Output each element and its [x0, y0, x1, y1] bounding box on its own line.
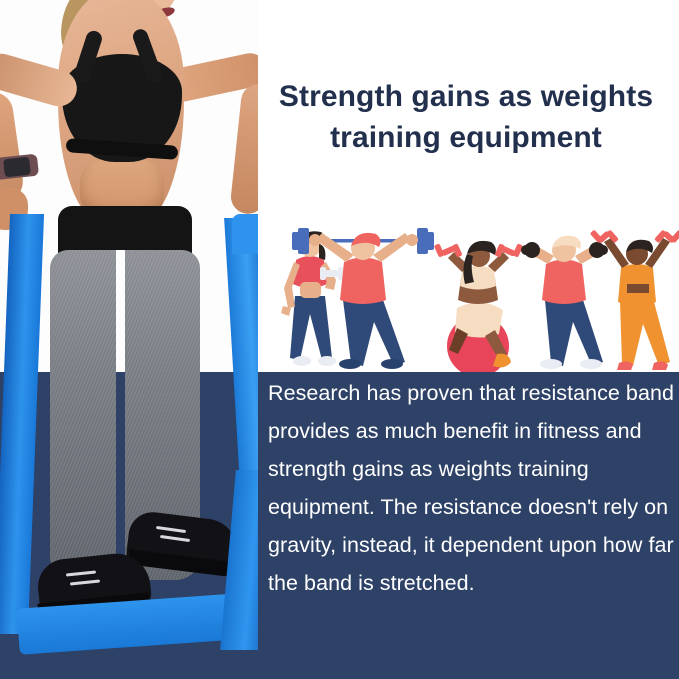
model-photo — [0, 0, 258, 679]
page-title: Strength gains as weights training equip… — [264, 76, 668, 159]
model-leg-gap-lower — [116, 372, 125, 580]
body-copy-text: Research has proven that resistance band… — [268, 374, 674, 602]
figure-stability-ball — [434, 241, 523, 372]
smart-watch — [3, 157, 31, 178]
dumbbell-icon — [589, 242, 608, 258]
product-infographic: Strength gains as weights training equip… — [0, 0, 679, 679]
resistance-band-right-top — [232, 214, 258, 254]
figure-shoulder-press — [521, 236, 608, 369]
dumbbell-icon — [494, 243, 523, 257]
dumbbell-icon — [521, 242, 540, 258]
dumbbell-icon — [590, 230, 619, 244]
dumbbell-icon — [434, 243, 463, 257]
athlete-illustration-row: .sk1{fill:#e8b08a}.sk2{fill:#f0c3a0}.sk3… — [280, 218, 679, 372]
body-copy: Research has proven that resistance band… — [268, 374, 674, 602]
